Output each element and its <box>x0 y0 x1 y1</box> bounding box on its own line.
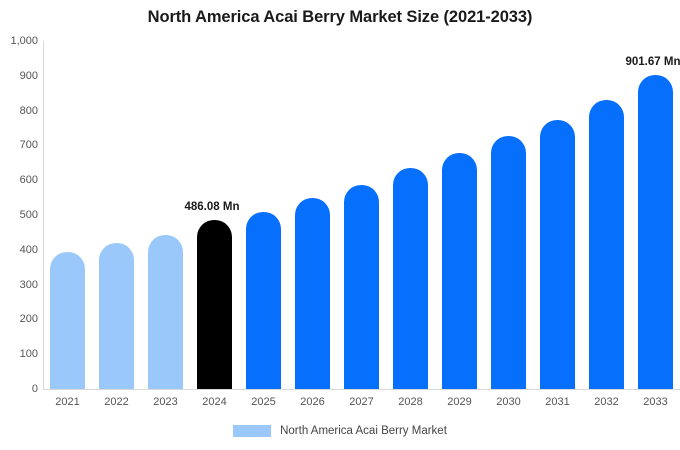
x-axis-tick-label: 2028 <box>386 396 435 408</box>
y-axis-tick-label: 400 <box>2 244 38 256</box>
x-axis-tick-label: 2032 <box>582 396 631 408</box>
bar-slot <box>197 41 232 389</box>
bar-slot <box>148 41 183 389</box>
bar-slot <box>99 41 134 389</box>
y-axis-tick-label: 300 <box>2 279 38 291</box>
bar-2024[interactable] <box>197 220 232 389</box>
bar-2030[interactable] <box>491 136 526 389</box>
x-axis-labels: 2021202220232024202520262027202820292030… <box>43 396 680 414</box>
bar-slot <box>638 41 673 389</box>
x-axis-tick-label: 2031 <box>533 396 582 408</box>
bar-slot <box>540 41 575 389</box>
x-axis-tick-label: 2030 <box>484 396 533 408</box>
bar-value-label-2024: 486.08 Mn <box>185 201 240 213</box>
bar-slot <box>393 41 428 389</box>
x-axis-tick-label: 2026 <box>288 396 337 408</box>
legend-label[interactable]: North America Acai Berry Market <box>280 425 447 437</box>
bar-2033[interactable] <box>638 75 673 389</box>
y-axis-tick-label: 200 <box>2 313 38 325</box>
bar-slot <box>50 41 85 389</box>
chart-container: North America Acai Berry Market Size (20… <box>0 0 680 450</box>
y-axis-tick-label: 500 <box>2 209 38 221</box>
bar-2026[interactable] <box>295 198 330 389</box>
y-axis-tick-label: 900 <box>2 70 38 82</box>
x-axis-tick-label: 2023 <box>141 396 190 408</box>
y-axis-labels: 01002003004005006007008009001,000 <box>0 41 38 389</box>
legend-swatch <box>233 425 271 437</box>
bar-2021[interactable] <box>50 252 85 389</box>
bar-value-label-2033: 901.67 Mn <box>626 56 680 68</box>
bar-slot <box>491 41 526 389</box>
x-axis-tick-label: 2021 <box>43 396 92 408</box>
x-axis-tick-label: 2027 <box>337 396 386 408</box>
x-axis-tick-label: 2025 <box>239 396 288 408</box>
bar-slot <box>442 41 477 389</box>
bar-2031[interactable] <box>540 120 575 389</box>
bar-2028[interactable] <box>393 168 428 389</box>
chart-title: North America Acai Berry Market Size (20… <box>0 8 680 27</box>
x-axis-tick-label: 2029 <box>435 396 484 408</box>
x-axis-line <box>43 389 680 390</box>
y-axis-tick-label: 800 <box>2 105 38 117</box>
x-axis-tick-label: 2024 <box>190 396 239 408</box>
chart-legend: North America Acai Berry Market <box>0 425 680 437</box>
bar-2023[interactable] <box>148 235 183 389</box>
y-axis-tick-label: 0 <box>2 383 38 395</box>
bar-slot <box>589 41 624 389</box>
bar-slot <box>246 41 281 389</box>
y-axis-tick-label: 600 <box>2 174 38 186</box>
bar-2025[interactable] <box>246 212 281 389</box>
bar-2032[interactable] <box>589 100 624 389</box>
y-axis-tick-label: 100 <box>2 348 38 360</box>
bars-layer: 486.08 Mn901.67 Mn <box>43 41 680 389</box>
bar-slot <box>344 41 379 389</box>
bar-slot <box>295 41 330 389</box>
bar-2027[interactable] <box>344 185 379 389</box>
y-axis-tick-label: 1,000 <box>2 35 38 47</box>
y-axis-tick-label: 700 <box>2 139 38 151</box>
x-axis-tick-label: 2022 <box>92 396 141 408</box>
x-axis-tick-label: 2033 <box>631 396 680 408</box>
bar-2022[interactable] <box>99 243 134 389</box>
bar-2029[interactable] <box>442 153 477 389</box>
